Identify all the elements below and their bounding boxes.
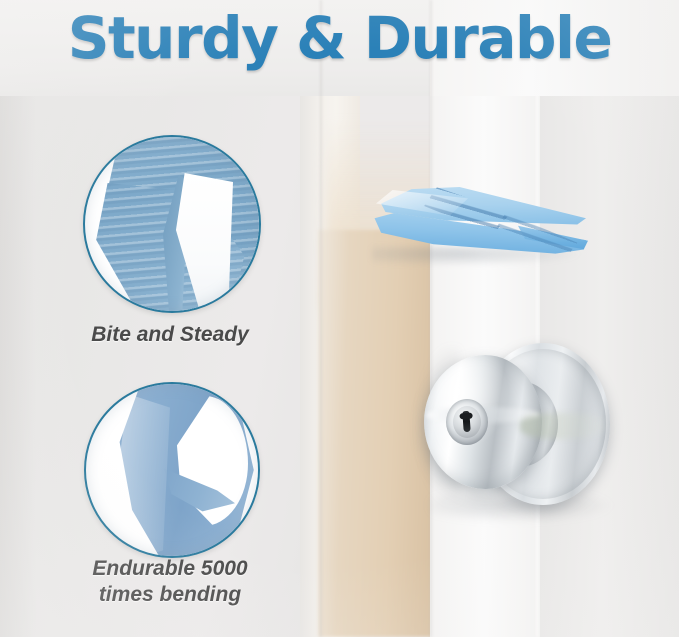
- knob-keyhole-slot: [462, 411, 470, 432]
- knob-window-reflection: [520, 413, 606, 439]
- feature-caption-endurable-bending: Endurable 5000times bending: [40, 556, 300, 607]
- feature-inset-bite-and-steady: [83, 135, 261, 313]
- product-feature-image: Sturdy & Durable Bite and Steady Endurab…: [0, 0, 679, 637]
- caption-line-1: Endurable 5000: [92, 557, 247, 580]
- background-layer: [0, 0, 679, 637]
- door-stop-wedge: [368, 186, 586, 264]
- caption-line-2: times bending: [99, 583, 241, 606]
- feature-caption-bite-and-steady: Bite and Steady: [40, 322, 300, 348]
- panel-seam-mid: [430, 0, 433, 637]
- feature-inset-endurable-bending: [84, 382, 260, 558]
- chrome-door-knob: [424, 333, 610, 519]
- headline-title: Sturdy & Durable: [0, 8, 679, 69]
- panel-seam-left: [320, 0, 323, 637]
